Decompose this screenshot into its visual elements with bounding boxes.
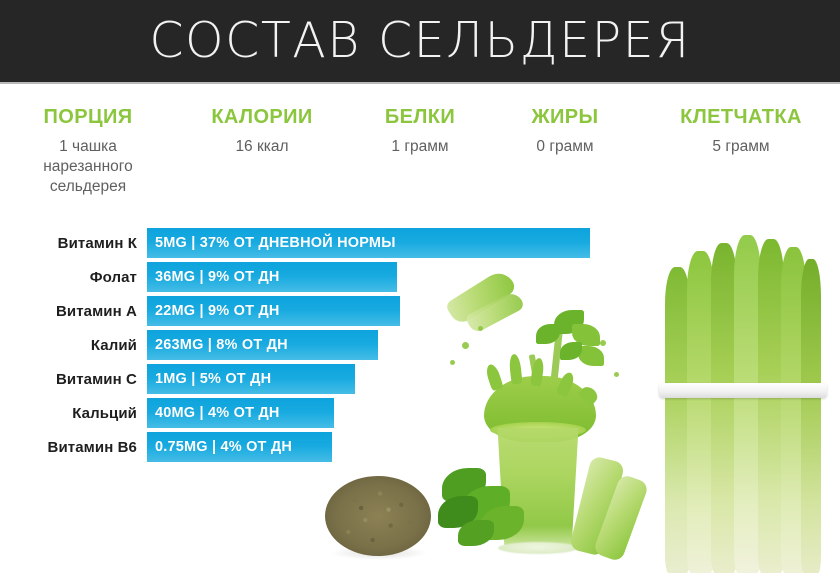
juice-droplet-icon [478,326,483,331]
summary-value-portion: 1 чашка нарезанного сельдерея [8,137,168,197]
chart-bar: 22MG | 9% ОТ ДН [147,296,400,326]
chart-bar-label: 22MG | 9% ОТ ДН [155,303,280,319]
celery-bunch-photo [663,233,821,573]
chart-row-label: Кальций [0,398,137,428]
juice-droplet-icon [614,372,619,377]
page-title: СОСТАВ СЕЛЬДЕРЕЯ [0,5,840,77]
summary-column-protein: БЕЛКИ 1 грамм [342,104,498,157]
nutrition-summary: ПОРЦИЯ 1 чашка нарезанного сельдерея КАЛ… [0,104,840,204]
chart-bar: 40MG | 4% ОТ ДН [147,398,334,428]
summary-label-portion: ПОРЦИЯ [8,104,168,130]
splash-crown-icon [508,354,522,385]
celery-juice-glass-photo [432,280,652,565]
summary-label-protein: БЕЛКИ [342,104,498,130]
summary-value-calories: 16 ккал [182,137,342,157]
summary-value-protein: 1 грамм [342,137,498,157]
chart-row-label: Витамин В6 [0,432,137,462]
chart-bar-label: 40MG | 4% ОТ ДН [155,405,280,421]
glass-base-shadow [498,542,578,554]
celery-bunch-band [659,383,827,398]
juice-droplet-icon [450,360,455,365]
header-divider [0,82,840,84]
summary-column-fat: ЖИРЫ 0 грамм [487,104,643,157]
summary-label-fiber: КЛЕТЧАТКА [648,104,834,130]
chart-bar-label: 0.75MG | 4% ОТ ДН [155,439,292,455]
summary-column-calories: КАЛОРИИ 16 ккал [182,104,342,157]
juice-droplet-icon [600,340,606,346]
chart-row-label: Фолат [0,262,137,292]
chart-bar: 36MG | 9% ОТ ДН [147,262,397,292]
celery-seeds-photo [325,476,431,556]
summary-label-calories: КАЛОРИИ [182,104,342,130]
summary-column-portion: ПОРЦИЯ 1 чашка нарезанного сельдерея [8,104,168,197]
chart-bar: 5MG | 37% ОТ ДНЕВНОЙ НОРМЫ [147,228,590,258]
summary-column-fiber: КЛЕТЧАТКА 5 грамм [648,104,834,157]
parsley-bunch-icon [458,520,494,546]
summary-value-fiber: 5 грамм [648,137,834,157]
celery-stalk-icon [801,259,821,573]
chart-bar: 1MG | 5% ОТ ДН [147,364,355,394]
summary-label-fat: ЖИРЫ [487,104,643,130]
chart-row-label: Калий [0,330,137,360]
splash-crown-icon [484,363,503,391]
chart-bar-label: 263MG | 8% ОТ ДН [155,337,288,353]
chart-row: Витамин К5MG | 37% ОТ ДНЕВНОЙ НОРМЫ [0,228,620,258]
chart-bar-label: 5MG | 37% ОТ ДНЕВНОЙ НОРМЫ [155,235,396,251]
chart-bar: 0.75MG | 4% ОТ ДН [147,432,332,462]
chart-bar-label: 1MG | 5% ОТ ДН [155,371,271,387]
chart-bar-label: 36MG | 9% ОТ ДН [155,269,280,285]
chart-row-label: Витамин А [0,296,137,326]
celery-stalk-icon [734,235,761,573]
summary-value-fat: 0 грамм [487,137,643,157]
infographic-page: СОСТАВ СЕЛЬДЕРЕЯ ПОРЦИЯ 1 чашка нарезанн… [0,0,840,579]
chart-row-label: Витамин К [0,228,137,258]
chart-row-label: Витамин С [0,364,137,394]
chart-bar: 263MG | 8% ОТ ДН [147,330,378,360]
juice-droplet-icon [462,342,469,349]
celery-stalk-icon [687,251,714,573]
